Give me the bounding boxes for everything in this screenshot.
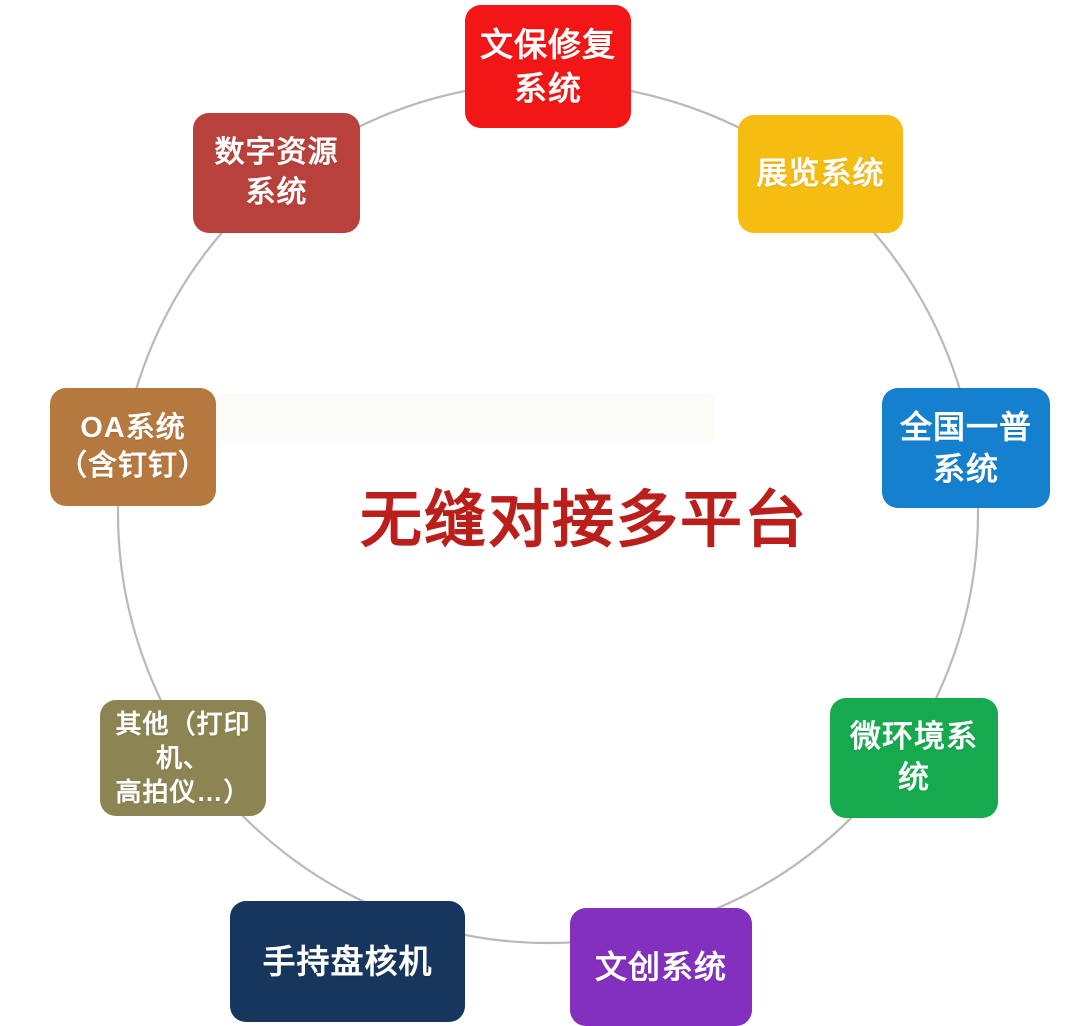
node-label-line-1: OA系统 — [58, 409, 208, 447]
node-label: 其他（打印机、 高拍仪…） — [108, 707, 258, 810]
node-shuzi-ziyuan-xitong[interactable]: 数字资源 系统 — [193, 113, 360, 233]
node-label-line-2: 统 — [838, 758, 990, 799]
node-label: OA系统 （含钉钉） — [58, 409, 208, 486]
node-label: 文创系统 — [578, 946, 744, 988]
node-label-line-1: 其他（打印机、 — [108, 707, 258, 776]
node-label-line-1: 全国一普 — [890, 406, 1042, 448]
node-label-line-1: 文保修复 — [473, 23, 623, 67]
center-title: 无缝对接多平台 — [360, 487, 780, 555]
node-label-line-1: 微环境系 — [838, 717, 990, 758]
node-wenbao-xiufu-xitong[interactable]: 文保修复 系统 — [465, 5, 631, 128]
node-label-line-2: 系统 — [201, 173, 352, 213]
node-label-line-2: （含钉钉） — [58, 447, 208, 485]
node-label-line-1: 文创系统 — [578, 946, 744, 988]
node-wenchuang-xitong[interactable]: 文创系统 — [570, 908, 752, 1026]
node-label: 全国一普 系统 — [890, 406, 1042, 490]
node-weihuanjing-xitong[interactable]: 微环境系 统 — [830, 698, 998, 818]
node-label-line-1: 手持盘核机 — [238, 940, 457, 984]
node-quanguo-yipu-xitong[interactable]: 全国一普 系统 — [882, 388, 1050, 508]
node-label: 手持盘核机 — [238, 940, 457, 984]
node-label: 微环境系 统 — [838, 717, 990, 799]
node-label: 数字资源 系统 — [201, 133, 352, 212]
node-label-line-2: 系统 — [473, 67, 623, 111]
diagram-canvas: 无缝对接多平台 文保修复 系统 展览系统 全国一普 系统 微环境系 统 文创系统… — [0, 0, 1080, 1026]
node-label-line-1: 展览系统 — [746, 154, 895, 195]
node-label-line-2: 系统 — [890, 448, 1042, 490]
node-shouchi-panheji[interactable]: 手持盘核机 — [230, 901, 465, 1022]
node-label-line-1: 数字资源 — [201, 133, 352, 173]
node-zhanlan-xitong[interactable]: 展览系统 — [738, 115, 903, 233]
node-label-line-2: 高拍仪…） — [108, 775, 258, 809]
node-label: 文保修复 系统 — [473, 23, 623, 110]
node-qita-dayinji-gaopaiyi[interactable]: 其他（打印机、 高拍仪…） — [100, 700, 266, 816]
node-oa-xitong[interactable]: OA系统 （含钉钉） — [50, 388, 216, 506]
node-label: 展览系统 — [746, 154, 895, 195]
